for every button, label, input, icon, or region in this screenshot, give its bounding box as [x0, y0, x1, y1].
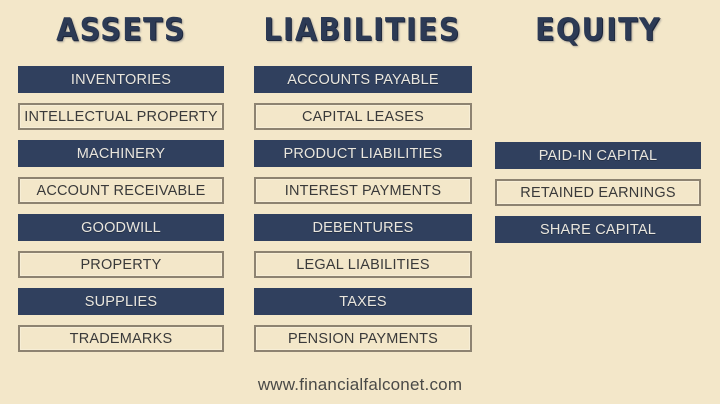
item-chip[interactable]: PAID-IN CAPITAL	[495, 142, 701, 169]
item-chip[interactable]: RETAINED EARNINGS	[495, 179, 701, 206]
column-header-liabilities: LIABILITIES	[261, 12, 463, 48]
item-chip[interactable]: SHARE CAPITAL	[495, 216, 701, 243]
equity-column: PAID-IN CAPITALRETAINED EARNINGSSHARE CA…	[495, 142, 701, 253]
column-headers: ASSETS LIABILITIES EQUITY	[0, 0, 720, 58]
column-header-assets: ASSETS	[26, 12, 216, 48]
item-chip[interactable]: INVENTORIES	[18, 66, 224, 93]
item-chip[interactable]: PROPERTY	[18, 251, 224, 278]
item-chip[interactable]: TAXES	[254, 288, 472, 315]
item-chip[interactable]: CAPITAL LEASES	[254, 103, 472, 130]
website-credit: www.financialfalconet.com	[0, 375, 720, 395]
item-chip[interactable]: ACCOUNT RECEIVABLE	[18, 177, 224, 204]
item-chip[interactable]: LEGAL LIABILITIES	[254, 251, 472, 278]
item-chip[interactable]: DEBENTURES	[254, 214, 472, 241]
item-chip[interactable]: GOODWILL	[18, 214, 224, 241]
item-chip[interactable]: INTEREST PAYMENTS	[254, 177, 472, 204]
item-chip[interactable]: MACHINERY	[18, 140, 224, 167]
infographic-board: ASSETS LIABILITIES EQUITY INVENTORIESINT…	[0, 0, 720, 404]
item-chip[interactable]: ACCOUNTS PAYABLE	[254, 66, 472, 93]
item-chip[interactable]: SUPPLIES	[18, 288, 224, 315]
item-chip[interactable]: PRODUCT LIABILITIES	[254, 140, 472, 167]
assets-column: INVENTORIESINTELLECTUAL PROPERTYMACHINER…	[18, 66, 224, 362]
item-chip[interactable]: PENSION PAYMENTS	[254, 325, 472, 352]
item-chip[interactable]: TRADEMARKS	[18, 325, 224, 352]
column-header-equity: EQUITY	[503, 12, 693, 48]
item-chip[interactable]: INTELLECTUAL PROPERTY	[18, 103, 224, 130]
liabilities-column: ACCOUNTS PAYABLECAPITAL LEASESPRODUCT LI…	[254, 66, 472, 362]
